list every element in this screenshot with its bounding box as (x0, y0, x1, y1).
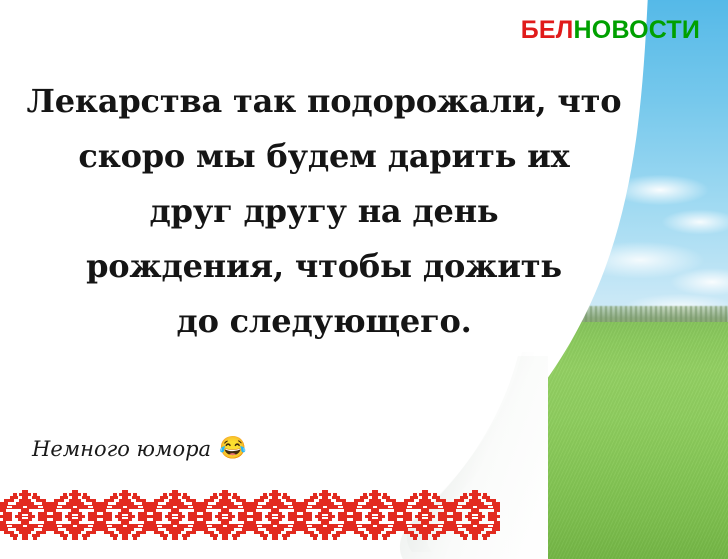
face-with-tears-of-joy-icon: 😂 (219, 438, 246, 460)
logo-text-novosti: НОВОСТИ (574, 16, 700, 44)
joke-line-4: рождения, чтобы дожить (14, 239, 634, 294)
joke-line-1: Лекарства так подорожали, что (14, 74, 634, 129)
signature-text: Немного юмора (32, 437, 211, 461)
poster-canvas: БЕЛНОВОСТИ Лекарства так подорожали, что… (0, 0, 728, 559)
joke-line-5: до следующего. (14, 294, 634, 349)
belarusian-ornament-border (0, 490, 500, 540)
site-logo[interactable]: БЕЛНОВОСТИ (521, 18, 700, 43)
joke-line-3: друг другу на день (14, 184, 634, 239)
signature-line: Немного юмора 😂 (32, 437, 246, 461)
ornament-pattern-svg (0, 490, 500, 540)
joke-line-2: скоро мы будем дарить их (14, 129, 634, 184)
joke-text-block: Лекарства так подорожали, что скоро мы б… (14, 74, 634, 349)
logo-text-bel: БЕЛ (521, 16, 574, 44)
